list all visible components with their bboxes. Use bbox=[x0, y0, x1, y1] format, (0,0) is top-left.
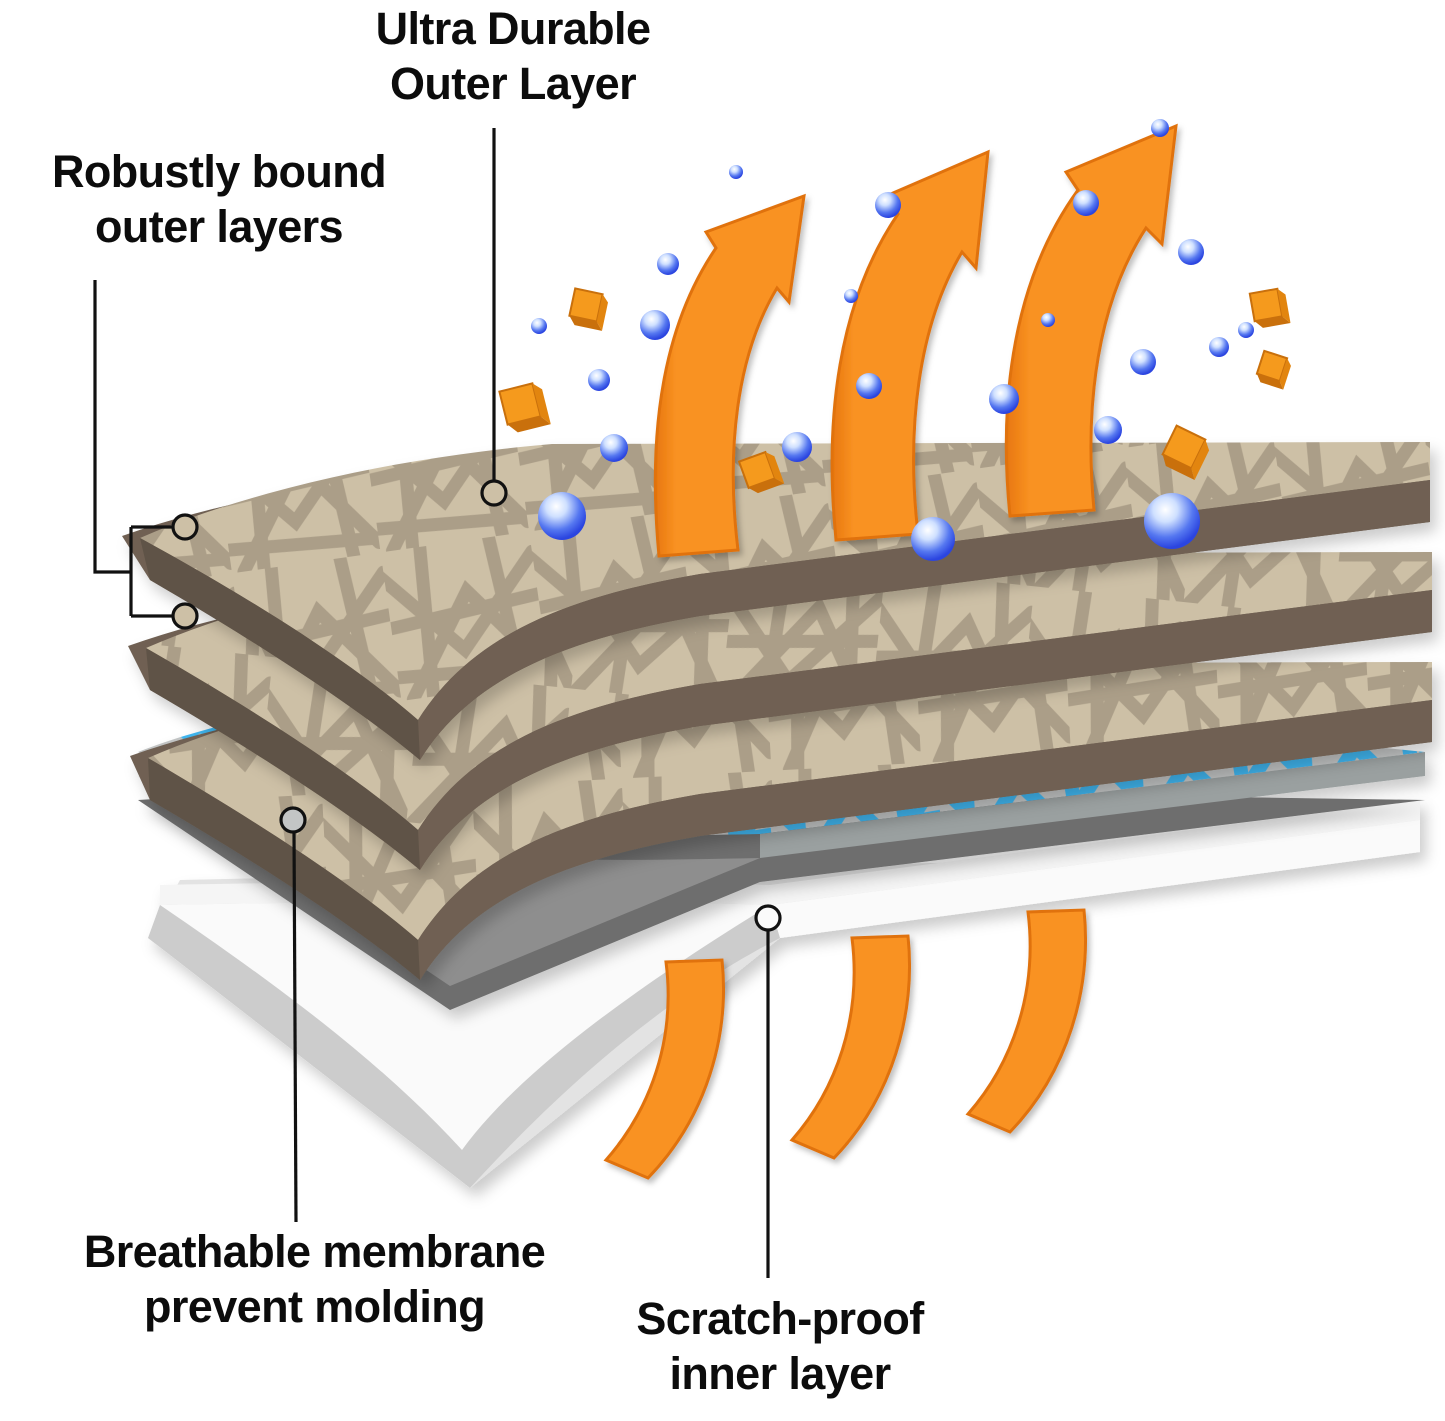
callout-scratch-inner bbox=[756, 906, 780, 1278]
diagram-canvas: Ultra Durable Outer Layer Robustly bound… bbox=[0, 0, 1445, 1421]
arrow-down-2 bbox=[792, 936, 909, 1158]
callout-outer-layer bbox=[482, 128, 506, 505]
dirt-cube-1 bbox=[499, 381, 550, 434]
label-breathable-membrane: Breathable membrane prevent molding bbox=[2, 1225, 627, 1335]
dirt-cube-5 bbox=[1250, 288, 1291, 330]
label-ultra-durable-outer-layer: Ultra Durable Outer Layer bbox=[323, 2, 703, 112]
label-scratch-proof-inner-layer: Scratch-proof inner layer bbox=[580, 1292, 980, 1402]
dirt-cube-2 bbox=[568, 288, 610, 330]
label-robustly-bound-outer-layers: Robustly bound outer layers bbox=[4, 145, 434, 255]
dirt-cube-6 bbox=[1255, 351, 1293, 390]
arrow-down-3 bbox=[968, 910, 1085, 1132]
